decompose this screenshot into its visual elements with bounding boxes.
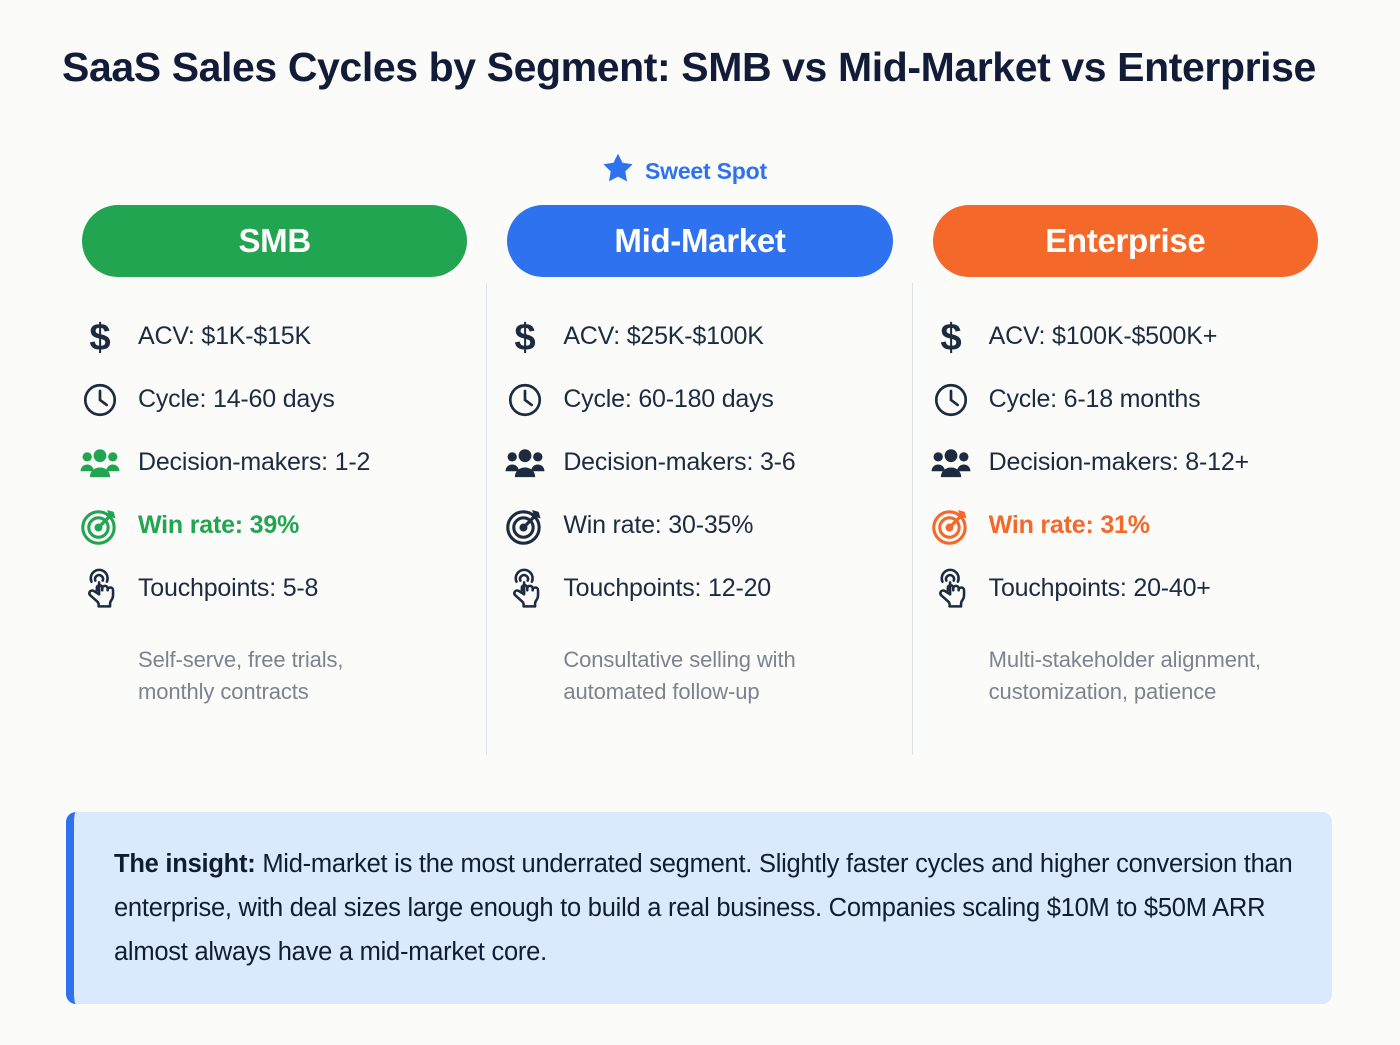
metric-text: Cycle: 6-18 months [989,385,1201,414]
metric-text: Win rate: 30-35% [563,511,753,540]
metric-text: Cycle: 60-180 days [563,385,773,414]
metric-row-win-rate: Win rate: 39% [78,494,471,557]
star-icon [600,151,636,191]
touchpoint-icon [929,567,973,611]
metric-text: Decision-makers: 1-2 [138,448,370,477]
segment-column-mid-market: Mid-Market $ ACV: $25K-$100K [487,205,912,708]
segment-column-smb: SMB $ ACV: $1K-$15K [62,205,487,708]
metric-row-cycle: Cycle: 6-18 months [929,368,1322,431]
infographic-page: SaaS Sales Cycles by Segment: SMB vs Mid… [0,0,1400,1045]
metric-text: Decision-makers: 8-12+ [989,448,1249,477]
insight-callout: The insight: Mid-market is the most unde… [66,812,1332,1004]
insight-text: The insight: Mid-market is the most unde… [114,842,1298,974]
metric-row-touchpoints: Touchpoints: 20-40+ [929,557,1322,620]
segment-columns: SMB $ ACV: $1K-$15K [62,205,1338,708]
metric-text: Touchpoints: 12-20 [563,574,771,603]
clock-icon [78,378,122,422]
page-title: SaaS Sales Cycles by Segment: SMB vs Mid… [62,44,1316,91]
clock-icon [503,378,547,422]
svg-text:$: $ [89,317,110,357]
metric-text: Decision-makers: 3-6 [563,448,795,477]
people-icon [503,441,547,485]
insight-lead: The insight: [114,850,255,878]
segment-pill-enterprise[interactable]: Enterprise [933,205,1318,277]
clock-icon [929,378,973,422]
target-icon [503,504,547,548]
segment-caption: Consultative selling with automated foll… [563,644,896,708]
svg-text:$: $ [515,317,536,357]
metric-list-mid-market: $ ACV: $25K-$100K Cycle: 60-180 days [503,305,896,620]
touchpoint-icon [78,567,122,611]
touchpoint-icon [503,567,547,611]
segment-pill-smb[interactable]: SMB [82,205,467,277]
metric-row-acv: $ ACV: $100K-$500K+ [929,305,1322,368]
metric-text: Touchpoints: 20-40+ [989,574,1211,603]
metric-text: Cycle: 14-60 days [138,385,335,414]
segment-caption: Multi-stakeholder alignment, customizati… [989,644,1322,708]
metric-row-cycle: Cycle: 14-60 days [78,368,471,431]
metric-list-enterprise: $ ACV: $100K-$500K+ Cycle: 6-18 months [929,305,1322,620]
segment-column-enterprise: Enterprise $ ACV: $100K-$500K+ [913,205,1338,708]
target-icon [78,504,122,548]
metric-text: Win rate: 31% [989,511,1150,540]
metric-row-win-rate: Win rate: 31% [929,494,1322,557]
dollar-icon: $ [929,315,973,359]
people-icon [78,441,122,485]
dollar-icon: $ [503,315,547,359]
metric-text: ACV: $1K-$15K [138,322,311,351]
metric-row-decision-makers: Decision-makers: 1-2 [78,431,471,494]
metric-row-acv: $ ACV: $25K-$100K [503,305,896,368]
metric-row-cycle: Cycle: 60-180 days [503,368,896,431]
target-icon [929,504,973,548]
segment-pill-mid-market[interactable]: Mid-Market [507,205,892,277]
metric-text: ACV: $25K-$100K [563,322,763,351]
dollar-icon: $ [78,315,122,359]
metric-text: Win rate: 39% [138,511,299,540]
segment-caption: Self-serve, free trials, monthly contrac… [138,644,471,708]
metric-row-decision-makers: Decision-makers: 8-12+ [929,431,1322,494]
metric-row-touchpoints: Touchpoints: 12-20 [503,557,896,620]
insight-body: Mid-market is the most underrated segmen… [114,850,1292,966]
svg-text:$: $ [940,317,961,357]
metric-text: Touchpoints: 5-8 [138,574,318,603]
metric-row-acv: $ ACV: $1K-$15K [78,305,471,368]
metric-row-decision-makers: Decision-makers: 3-6 [503,431,896,494]
metric-list-smb: $ ACV: $1K-$15K Cycle: 14-60 days [78,305,471,620]
metric-text: ACV: $100K-$500K+ [989,322,1217,351]
metric-row-touchpoints: Touchpoints: 5-8 [78,557,471,620]
people-icon [929,441,973,485]
sweet-spot-label: Sweet Spot [645,158,767,185]
metric-row-win-rate: Win rate: 30-35% [503,494,896,557]
sweet-spot-badge: Sweet Spot [600,152,767,190]
